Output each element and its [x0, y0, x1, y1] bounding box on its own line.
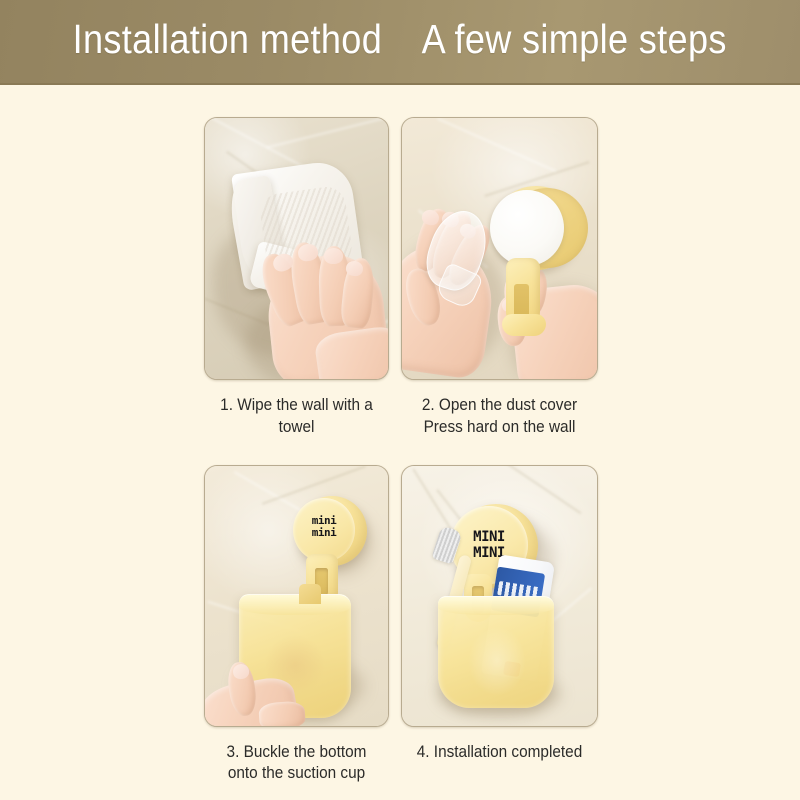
hook-tip: [502, 314, 546, 336]
holder-cup-back-tab: [299, 584, 321, 604]
step-item-2: 2. Open the dust cover Press hard on the…: [401, 117, 598, 439]
brand-label-line1: mini: [473, 530, 505, 544]
photo-wipe-wall-with-towel: [204, 117, 389, 380]
finger-support: [258, 700, 306, 727]
photo-installation-completed: mini mini: [401, 465, 598, 727]
photo-buckle-bottom-onto-suction-cup: mini mini: [204, 465, 389, 727]
brand-label: mini mini: [302, 510, 346, 544]
step-item-1: 1. Wipe the wall with a towel: [204, 117, 389, 439]
adhesive-pad: [490, 190, 564, 266]
step-caption-4: 4. Installation completed: [408, 742, 591, 764]
holder-cup-rim: [438, 596, 554, 615]
photo-open-dust-cover: [401, 117, 598, 380]
brand-label-line1: mini: [312, 515, 337, 526]
fingernail: [324, 248, 344, 265]
step-caption-2: 2. Open the dust cover Press hard on the…: [408, 395, 591, 439]
holder-cup-rim: [239, 594, 351, 615]
step-item-3: mini mini 3. Buckle the bottom onto the …: [204, 465, 389, 786]
step-caption-1: 1. Wipe the wall with a towel: [210, 395, 382, 439]
step-item-4: mini mini 4. Installation completed: [401, 465, 598, 786]
brand-label-line2: mini: [312, 527, 337, 538]
installation-steps-grid: 1. Wipe the wall with a towel: [204, 117, 598, 785]
header-banner: Installation method A few simple steps: [0, 0, 800, 85]
page-title: Installation method A few simple steps: [73, 19, 727, 64]
step-caption-3: 3. Buckle the bottom onto the suction cu…: [210, 742, 382, 786]
